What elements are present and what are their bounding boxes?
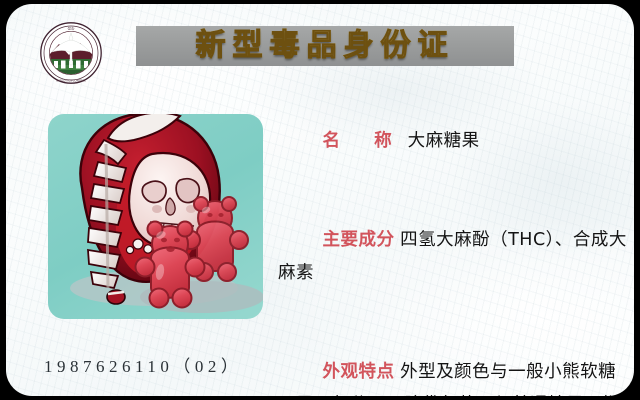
page-title: 新型毒品身份证 xyxy=(136,24,514,68)
info-row-ingredients: 主要成分 四氢大麻酚（THC）、合成大麻素 xyxy=(278,191,628,323)
info-label-name: 名 称 xyxy=(323,131,408,151)
info-label-ingredients: 主要成分 xyxy=(323,230,395,250)
drug-illustration xyxy=(48,114,263,319)
serial-number: 1987626110（02） xyxy=(44,352,242,377)
narcotics-control-emblem-icon: ·禁毒· NARCOTICS CONTROL xyxy=(39,21,103,85)
info-row-appearance: 外观特点 外型及颜色与一般小熊软糖无异，部分更以胶袋包装，与普通糖果一样 xyxy=(278,323,628,396)
info-label-appearance: 外观特点 xyxy=(323,362,395,382)
poster-root: ·禁毒· NARCOTICS CONTROL 新型毒品身份证 xyxy=(0,0,640,400)
svg-text:NARCOTICS CONTROL: NARCOTICS CONTROL xyxy=(56,78,86,82)
id-card-sheet: ·禁毒· NARCOTICS CONTROL 新型毒品身份证 xyxy=(6,4,634,396)
info-row-name: 名 称大麻糖果 xyxy=(278,92,628,191)
illustration-artwork xyxy=(34,92,282,332)
info-block: 名 称大麻糖果 主要成分 四氢大麻酚（THC）、合成大麻素 外观特点 外型及颜色… xyxy=(278,92,628,396)
info-value-name: 大麻糖果 xyxy=(408,131,480,151)
svg-text:·禁毒·: ·禁毒· xyxy=(67,26,75,31)
